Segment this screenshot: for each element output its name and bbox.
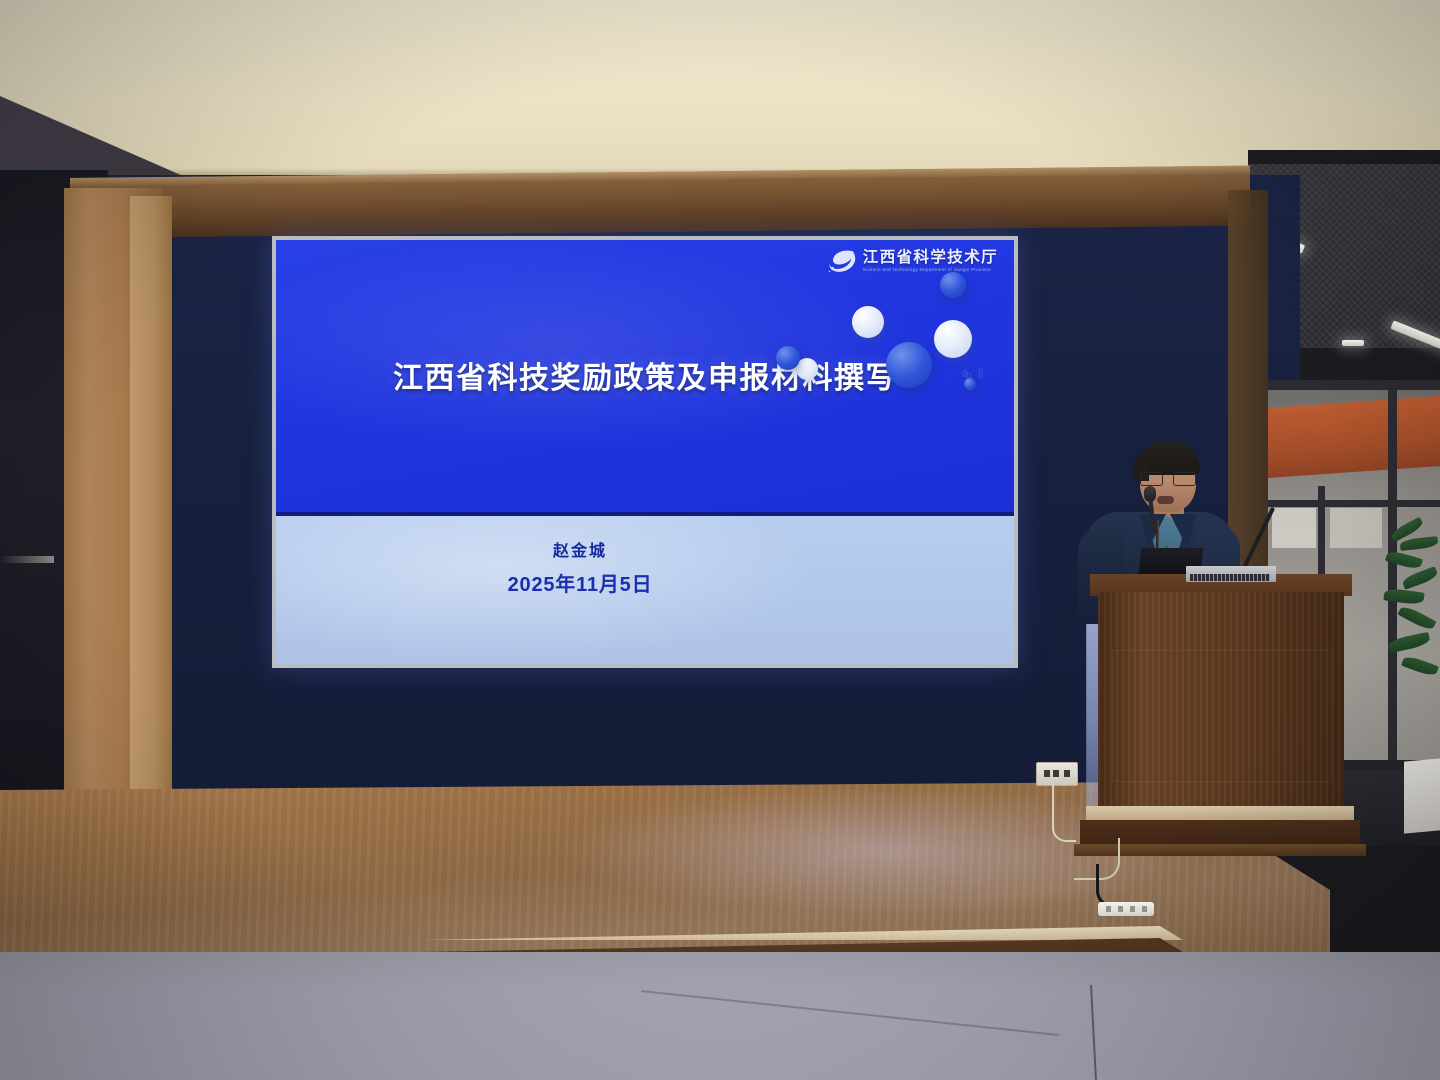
glass-pane <box>1330 508 1382 548</box>
decor-bubble <box>776 346 800 370</box>
wall-outlet-icon[interactable] <box>1036 762 1078 786</box>
decor-bubble <box>852 306 884 338</box>
laptop-keyboard[interactable] <box>1190 574 1270 581</box>
window-mullion <box>1268 380 1440 390</box>
decor-bubble <box>940 272 966 298</box>
ceiling <box>0 0 1440 186</box>
slide-date: 2025年11月5日 <box>276 568 1014 597</box>
podium-base <box>1080 820 1360 846</box>
power-strip-icon[interactable] <box>1098 902 1154 916</box>
ceiling-downlight <box>1342 340 1364 346</box>
glass-pane <box>1272 508 1316 548</box>
decor-bubble <box>934 320 972 358</box>
presentation-photo-scene: 江西省科学技术厅 Science and Technology Departme… <box>0 0 1440 1080</box>
organization-logo: 江西省科学技术厅 Science and Technology Departme… <box>828 248 998 274</box>
potted-plant <box>1380 520 1440 750</box>
black-cables <box>1096 864 1143 907</box>
power-cable <box>1052 784 1076 842</box>
swoosh-logo-icon <box>828 248 858 274</box>
ceiling-beam-top-right <box>1248 150 1440 164</box>
orange-wall-accent <box>1268 396 1440 478</box>
decor-bubble <box>886 342 932 388</box>
window-mullion <box>1268 500 1440 507</box>
speaker-mouth <box>1157 496 1174 504</box>
projection-screen[interactable]: 江西省科学技术厅 Science and Technology Departme… <box>276 240 1014 664</box>
wood-pillar-left-face <box>130 196 172 808</box>
left-wall-light <box>0 556 54 563</box>
glasses-icon <box>1140 472 1196 484</box>
logo-name-en: Science and Technology Department of Jia… <box>863 268 998 273</box>
floor <box>0 952 1440 1080</box>
podium-front-panel <box>1112 650 1332 782</box>
recycle-icon <box>960 368 973 381</box>
white-panel-right <box>1404 758 1440 833</box>
slide-presenter-name: 赵金城 <box>276 537 1014 561</box>
resize-icon <box>978 368 988 379</box>
logo-name-cn: 江西省科学技术厅 <box>863 250 998 266</box>
